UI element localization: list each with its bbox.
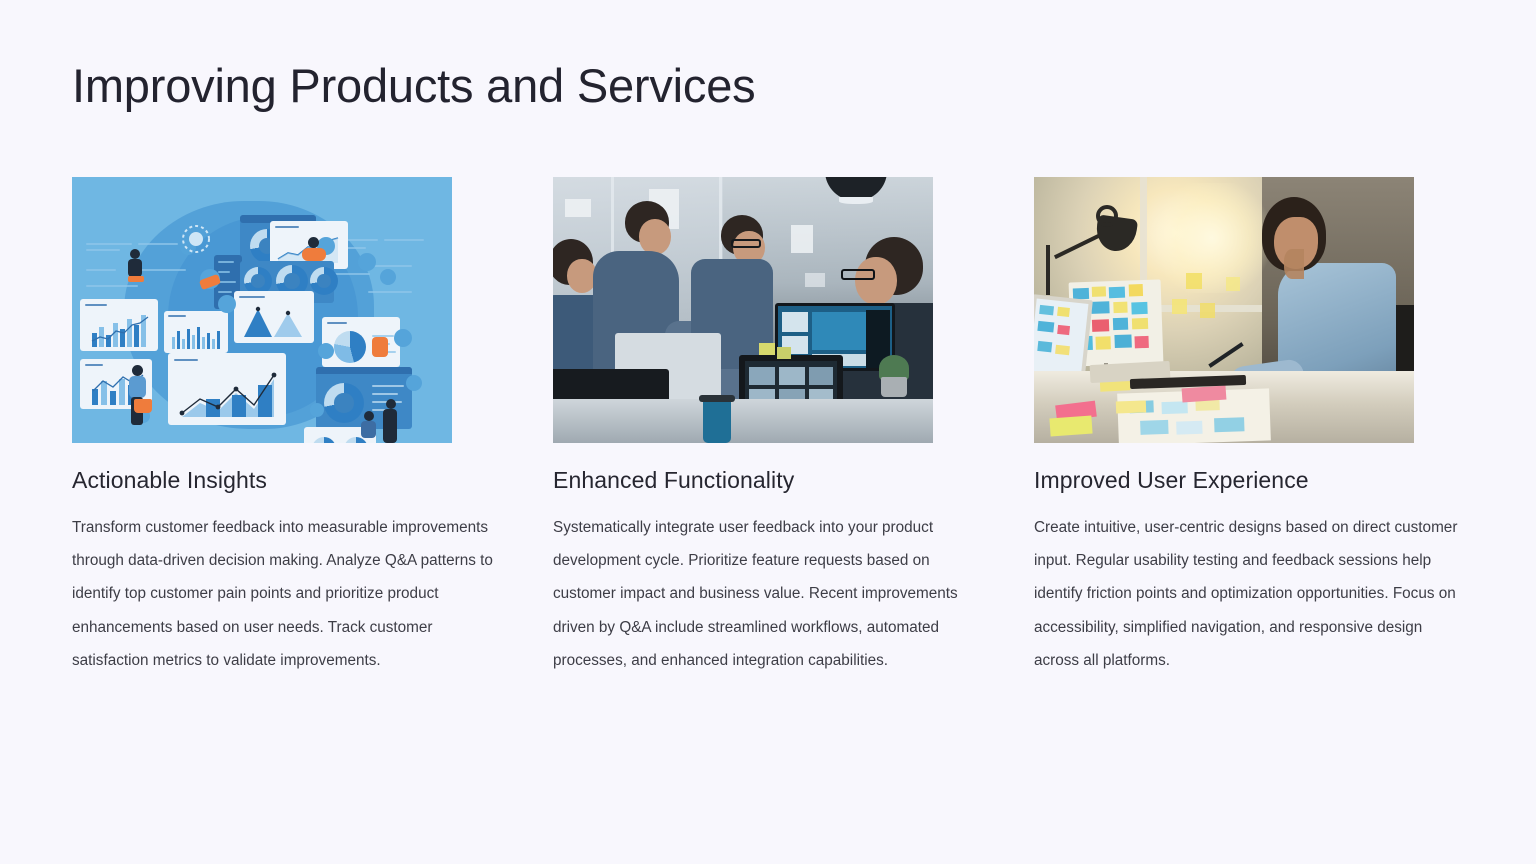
card-heading-enhanced-functionality: Enhanced Functionality xyxy=(553,467,933,494)
content-columns: Actionable Insights Transform customer f… xyxy=(72,177,1464,677)
office-team-collaboration-photo xyxy=(553,177,933,443)
content-column-actionable-insights: Actionable Insights Transform customer f… xyxy=(72,177,452,677)
content-column-enhanced-functionality: Enhanced Functionality Systematically in… xyxy=(553,177,933,677)
card-body-enhanced-functionality: Systematically integrate user feedback i… xyxy=(553,511,983,677)
card-heading-improved-user-experience: Improved User Experience xyxy=(1034,467,1414,494)
card-body-actionable-insights: Transform customer feedback into measura… xyxy=(72,511,504,677)
content-column-improved-user-experience: Improved User Experience Create intuitiv… xyxy=(1034,177,1414,677)
designer-at-desk-photo xyxy=(1034,177,1414,443)
data-analytics-illustration xyxy=(72,177,452,443)
page-title: Improving Products and Services xyxy=(72,58,755,113)
card-body-improved-user-experience: Create intuitive, user-centric designs b… xyxy=(1034,511,1466,677)
card-heading-actionable-insights: Actionable Insights xyxy=(72,467,452,494)
slide: Improving Products and Services xyxy=(0,0,1536,864)
